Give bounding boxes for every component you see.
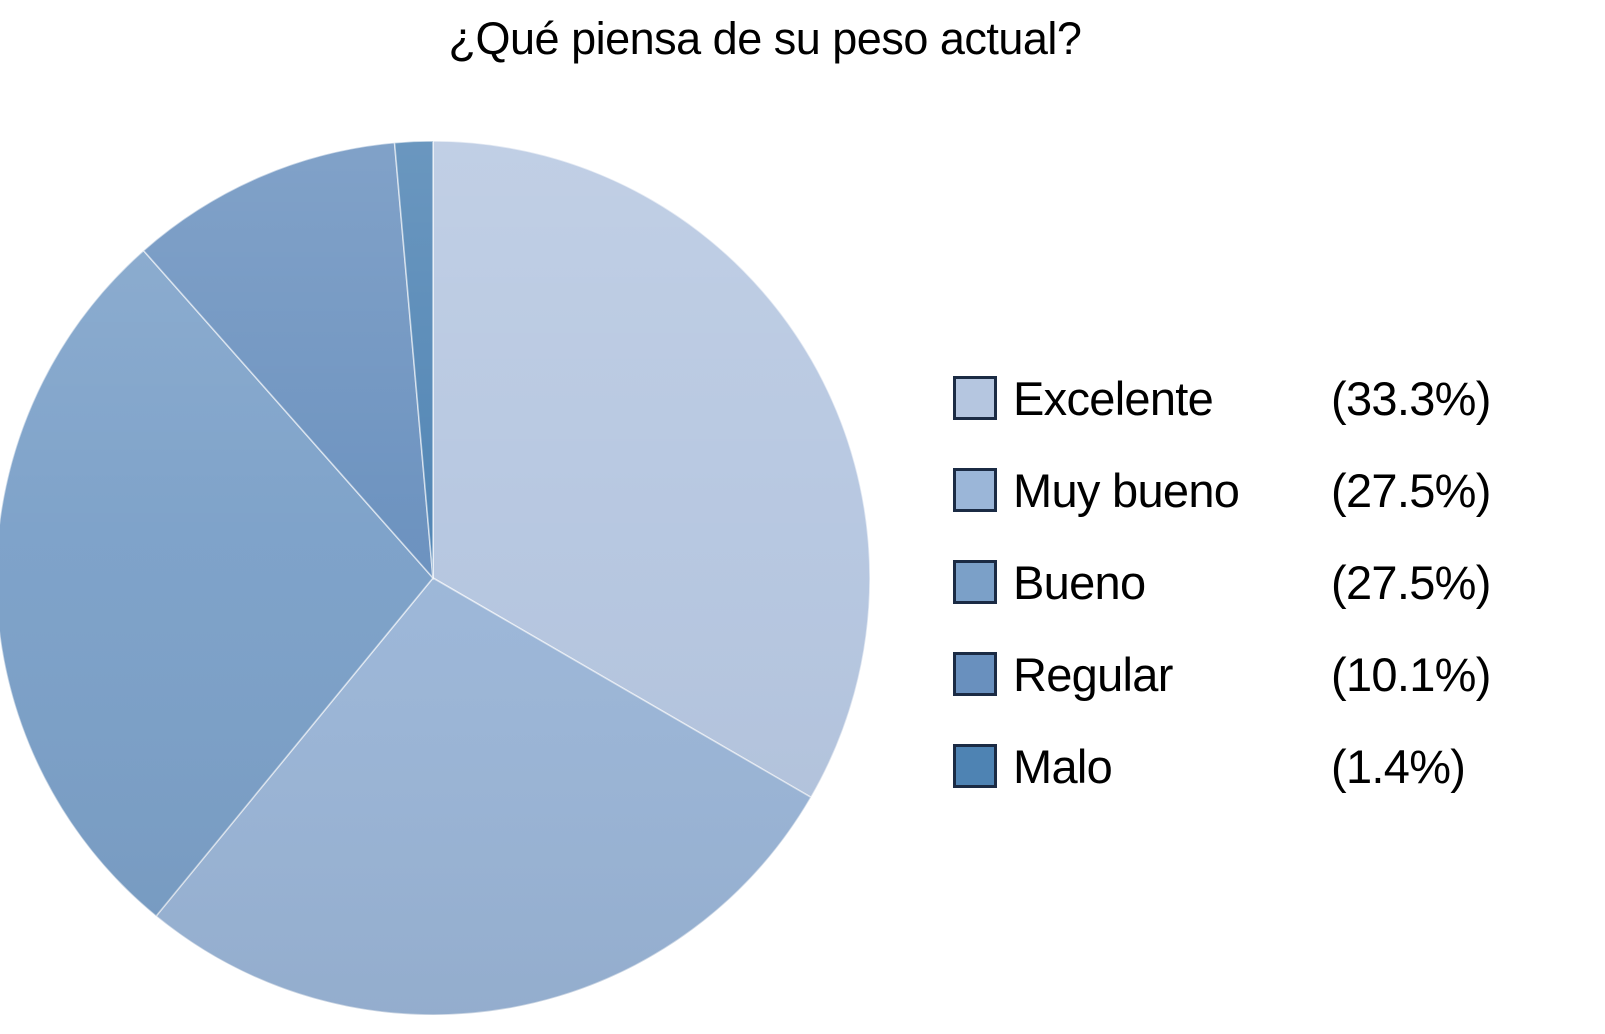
pie-svg bbox=[0, 140, 880, 1034]
pie-chart-figure: ¿Qué piensa de su peso actual? Excelente… bbox=[0, 0, 1605, 1024]
legend-item-percentage: (33.3%) bbox=[1331, 375, 1491, 422]
legend-item-label: Regular bbox=[1013, 651, 1331, 698]
legend-item-percentage: (27.5%) bbox=[1331, 559, 1491, 606]
legend-item[interactable]: Regular(10.1%) bbox=[953, 628, 1573, 720]
legend-color-swatch bbox=[953, 652, 997, 696]
pie-shading-overlay bbox=[0, 141, 870, 1015]
legend-color-swatch bbox=[953, 744, 997, 788]
chart-legend: Excelente(33.3%)Muy bueno(27.5%)Bueno(27… bbox=[953, 352, 1573, 812]
legend-item-label: Excelente bbox=[1013, 375, 1331, 422]
legend-color-swatch bbox=[953, 560, 997, 604]
legend-item-label: Muy bueno bbox=[1013, 467, 1331, 514]
pie-plot-area bbox=[0, 140, 880, 1034]
legend-item[interactable]: Excelente(33.3%) bbox=[953, 352, 1573, 444]
legend-color-swatch bbox=[953, 468, 997, 512]
legend-item-percentage: (1.4%) bbox=[1331, 743, 1465, 790]
legend-item-percentage: (10.1%) bbox=[1331, 651, 1491, 698]
legend-item[interactable]: Muy bueno(27.5%) bbox=[953, 444, 1573, 536]
legend-item-label: Malo bbox=[1013, 743, 1331, 790]
legend-item[interactable]: Bueno(27.5%) bbox=[953, 536, 1573, 628]
legend-item[interactable]: Malo(1.4%) bbox=[953, 720, 1573, 812]
legend-item-percentage: (27.5%) bbox=[1331, 467, 1491, 514]
legend-item-label: Bueno bbox=[1013, 559, 1331, 606]
chart-title: ¿Qué piensa de su peso actual? bbox=[0, 14, 1530, 64]
legend-color-swatch bbox=[953, 376, 997, 420]
